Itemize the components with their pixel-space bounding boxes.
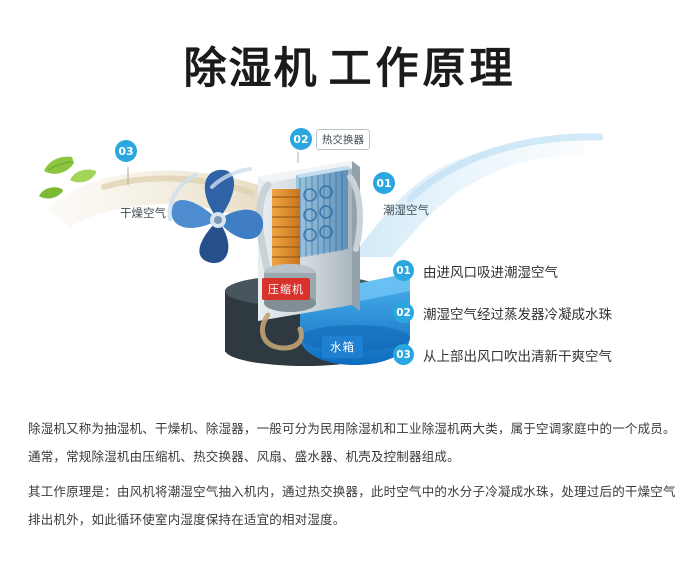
step-item: 03 从上部出风口吹出清新干爽空气 [393, 344, 693, 365]
page-title: 除湿机工作原理 [0, 34, 700, 96]
page-root: 除湿机工作原理 [0, 0, 700, 566]
label-heat-exchanger: 热交换器 [316, 129, 370, 150]
label-compressor: 压缩机 [262, 278, 310, 300]
page-title-part2: 工作原理 [329, 44, 517, 94]
paragraph-line: 排出机外，如此循环使室内湿度保持在适宜的相对湿度。 [28, 509, 676, 530]
paragraph-line: 其工作原理是：由风机将潮湿空气抽入机内，通过热交换器，此时空气中的水分子冷凝成水… [28, 481, 676, 502]
label-dry-air: 干燥空气 [120, 205, 166, 221]
badge-02-diagram: 02 [290, 128, 312, 150]
label-water-tank: 水箱 [322, 336, 363, 358]
paragraph-line: 通常，常规除湿机由压缩机、热交换器、风扇、盛水器、机壳及控制器组成。 [28, 446, 676, 467]
paragraph-line: 除湿机又称为抽湿机、干燥机、除湿器，一般可分为民用除湿机和工业除湿机两大类，属于… [28, 418, 676, 439]
step-number: 02 [393, 302, 414, 323]
step-text: 由进风口吸进潮湿空气 [423, 261, 558, 281]
step-number: 03 [393, 344, 414, 365]
step-text: 从上部出风口吹出清新干爽空气 [423, 345, 612, 365]
step-text: 潮湿空气经过蒸发器冷凝成水珠 [423, 303, 612, 323]
badge-03-diagram: 03 [115, 140, 137, 162]
description-block: 除湿机又称为抽湿机、干燥机、除湿器，一般可分为民用除湿机和工业除湿机两大类，属于… [28, 418, 676, 537]
dehumidifier-diagram: 03 干燥空气 02 热交换器 01 潮湿空气 压缩机 水箱 01 由进风口吸进… [0, 115, 700, 400]
badge-01-diagram: 01 [373, 172, 395, 194]
step-item: 01 由进风口吸进潮湿空气 [393, 260, 693, 281]
label-humid-air: 潮湿空气 [383, 202, 429, 218]
steps-list: 01 由进风口吸进潮湿空气 02 潮湿空气经过蒸发器冷凝成水珠 03 从上部出风… [393, 260, 693, 386]
step-number: 01 [393, 260, 414, 281]
step-item: 02 潮湿空气经过蒸发器冷凝成水珠 [393, 302, 693, 323]
page-title-part1: 除湿机 [184, 44, 319, 94]
